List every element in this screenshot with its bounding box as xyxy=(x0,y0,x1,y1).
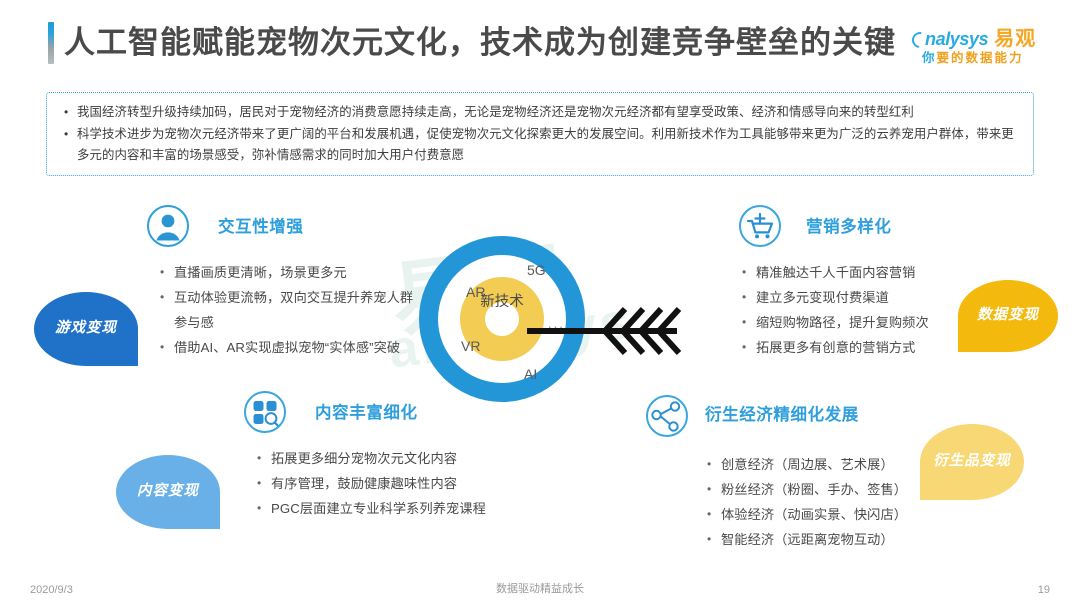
shopping-cart-plus-icon xyxy=(738,204,782,248)
callout-bullet: 科学技术进步为宠物次元经济带来了更广阔的平台和发展机遇，促使宠物次元文化探索更大… xyxy=(63,124,1017,166)
feature-bullet-list: 拓展更多细分宠物次元文化内容 有序管理，鼓励健康趣味性内容 PGC层面建立专业科… xyxy=(255,446,543,521)
badge-derivative-monetization: 衍生品变现 xyxy=(920,424,1024,500)
feature-bullet-list: 直播画质更清晰，场景更多元 互动体验更流畅，双向交互提升养宠人群参与感 借助AI… xyxy=(158,260,426,360)
logo-tagline: 你要的数据能力 xyxy=(922,47,1024,66)
footer-page-number: 19 xyxy=(1038,584,1050,596)
logo-tagline-rest: 要的数据能力 xyxy=(937,51,1024,65)
slide-footer: 2020/9/3 数据驱动精益成长 19 xyxy=(0,568,1080,608)
feature-block-content: 内容丰富细化 拓展更多细分宠物次元文化内容 有序管理，鼓励健康趣味性内容 PGC… xyxy=(243,390,543,521)
feature-bullet: PGC层面建立专业科学系列养宠课程 xyxy=(255,496,543,521)
badge-label: 游戏变现 xyxy=(55,319,117,340)
logo-tagline-first: 你 xyxy=(922,51,937,65)
footer-tagline: 数据驱动精益成长 xyxy=(0,580,1080,596)
feature-bullet: 精准触达千人千面内容营销 xyxy=(740,260,1018,285)
badge-label: 衍生品变现 xyxy=(933,452,1011,473)
feature-header: 衍生经济精细化发展 xyxy=(645,394,975,440)
feature-title: 交互性增强 xyxy=(218,213,304,237)
feature-bullet: 借助AI、AR实现虚拟宠物“实体感”突破 xyxy=(158,335,426,360)
feature-header: 交互性增强 xyxy=(146,204,426,250)
feature-header: 营销多样化 xyxy=(738,204,1018,250)
ring-label-5g: 5G xyxy=(527,262,546,278)
person-icon xyxy=(146,204,190,248)
summary-callout-box: 我国经济转型升级持续加码，居民对于宠物经济的消费意愿持续走高，无论是宠物经济还是… xyxy=(46,92,1034,176)
feature-title: 内容丰富细化 xyxy=(315,399,418,423)
callout-bullet: 我国经济转型升级持续加码，居民对于宠物经济的消费意愿持续走高，无论是宠物经济还是… xyxy=(63,102,1017,123)
ring-label-ai: AI xyxy=(524,366,537,382)
feature-bullet: 智能经济（远距离宠物互动） xyxy=(705,527,975,552)
analysys-logo: nalysys易观 你要的数据能力 xyxy=(912,22,1052,68)
feature-block-interaction: 交互性增强 直播画质更清晰，场景更多元 互动体验更流畅，双向交互提升养宠人群参与… xyxy=(146,204,426,360)
feature-title: 衍生经济精细化发展 xyxy=(705,401,859,425)
badge-game-monetization: 游戏变现 xyxy=(34,292,138,366)
feature-bullet: 直播画质更清晰，场景更多元 xyxy=(158,260,426,285)
callout-bullet-list: 我国经济转型升级持续加码，居民对于宠物经济的消费意愿持续走高，无论是宠物经济还是… xyxy=(63,102,1017,166)
logo-primary-row: nalysys易观 xyxy=(912,22,1036,46)
badge-label: 数据变现 xyxy=(977,306,1039,327)
arrow-pointing-left-icon xyxy=(527,303,685,359)
grid-search-icon xyxy=(243,390,287,434)
feature-bullet: 互动体验更流畅，双向交互提升养宠人群参与感 xyxy=(158,285,426,335)
badge-label: 内容变现 xyxy=(137,482,199,503)
feature-bullet: 拓展更多细分宠物次元文化内容 xyxy=(255,446,543,471)
share-network-icon xyxy=(645,394,689,438)
slide-root: 易观 analysys 人工智能赋能宠物次元文化，技术成为创建竞争壁垒的关键 n… xyxy=(0,0,1080,608)
feature-bullet: 有序管理，鼓励健康趣味性内容 xyxy=(255,471,543,496)
badge-content-monetization: 内容变现 xyxy=(116,455,220,529)
page-title: 人工智能赋能宠物次元文化，技术成为创建竞争壁垒的关键 xyxy=(64,20,896,66)
slide-header: 人工智能赋能宠物次元文化，技术成为创建竞争壁垒的关键 nalysys易观 你要的… xyxy=(0,0,1080,84)
ring-label-vr: VR xyxy=(461,338,480,354)
feature-title: 营销多样化 xyxy=(806,213,892,237)
title-accent-bar xyxy=(48,22,54,64)
feature-bullet: 体验经济（动画实景、快闪店） xyxy=(705,502,975,527)
badge-data-monetization: 数据变现 xyxy=(958,280,1058,352)
